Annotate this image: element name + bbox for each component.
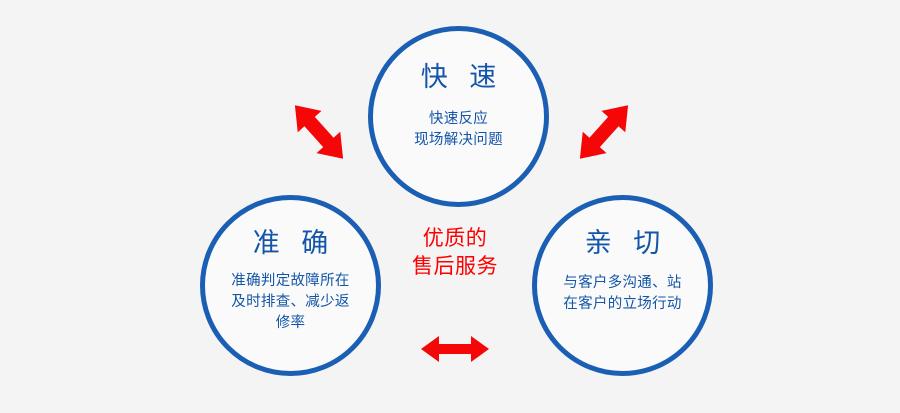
- center-caption: 优质的 售后服务: [385, 225, 525, 281]
- double-arrow-horizontal-icon: [419, 332, 491, 371]
- circle-node-accurate-title: 准 确: [246, 230, 336, 257]
- circle-node-fast-title: 快 速: [414, 64, 504, 91]
- circle-node-accurate[interactable]: 准 确 准确判定故障所在 及时排查、减少返 修率: [200, 195, 381, 376]
- circle-node-friendly[interactable]: 亲 切 与客户多沟通、站 在客户的立场行动: [532, 195, 713, 376]
- double-arrow-diagonal-down-right-icon: [572, 92, 636, 177]
- service-quality-diagram: 快 速 快速反应 现场解决问题 准 确 准确判定故障所在 及时排查、减少返 修率…: [0, 0, 900, 413]
- circle-node-fast-body: 快速反应 现场解决问题: [404, 109, 513, 151]
- circle-node-fast[interactable]: 快 速 快速反应 现场解决问题: [368, 26, 549, 207]
- double-arrow-diagonal-up-right-icon: [287, 92, 351, 177]
- circle-node-friendly-title: 亲 切: [578, 230, 668, 257]
- circle-node-friendly-body: 与客户多沟通、站 在客户的立场行动: [557, 273, 687, 315]
- circle-node-accurate-body: 准确判定故障所在 及时排查、减少返 修率: [223, 271, 357, 334]
